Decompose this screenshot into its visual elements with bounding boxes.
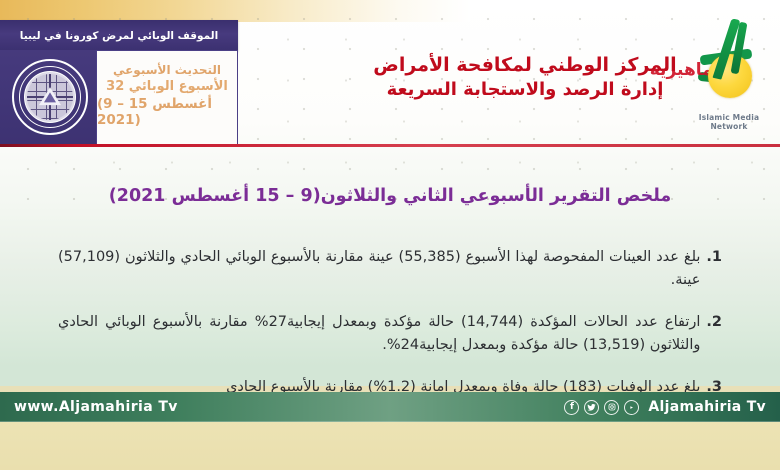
epidemic-situation-banner-text: الموقف الوبائي لمرض كورونا في ليبيا <box>20 30 218 42</box>
epidemiological-week-label: الأسبوع الوبائي 32 <box>106 79 228 94</box>
aljamahiria-logo: الجماهيرية Islamic Media Network <box>680 12 776 134</box>
list-item-text: ارتفاع عدد الحالات المؤكدة (14,744) حالة… <box>58 311 700 358</box>
epidemic-situation-banner: الموقف الوبائي لمرض كورونا في ليبيا <box>0 20 238 51</box>
report-graphic: الموقف الوبائي لمرض كورونا في ليبيا التح… <box>0 0 780 470</box>
islamic-media-network-label: Islamic Media Network <box>682 113 776 131</box>
page-title: ملخص التقرير الأسبوعي الثاني والثلاثون(9… <box>0 186 780 206</box>
footer-bar: www.Aljamahiria Tv f Aljamahiria Tv <box>0 392 780 422</box>
list-item: .1 بلغ عدد العينات المفحوصة لهذا الأسبوع… <box>58 246 722 293</box>
facebook-icon[interactable]: f <box>564 400 579 415</box>
social-handle-label[interactable]: Aljamahiria Tv <box>648 399 766 415</box>
list-item-number: .2 <box>706 311 722 358</box>
youtube-icon[interactable] <box>624 400 639 415</box>
social-links: f Aljamahiria Tv <box>564 399 766 415</box>
weekly-update-label: التحديث الأسبوعي <box>113 63 221 77</box>
list-item: .2 ارتفاع عدد الحالات المؤكدة (14,744) ح… <box>58 311 722 358</box>
date-range-label: (9 – 15 أغسطس 2021) <box>97 96 237 128</box>
instagram-icon[interactable] <box>604 400 619 415</box>
background-top-gold-strip <box>0 0 470 22</box>
ncdc-emblem-icon <box>10 57 90 137</box>
website-label[interactable]: www.Aljamahiria Tv <box>14 399 178 415</box>
twitter-icon[interactable] <box>584 400 599 415</box>
weekly-update-card: التحديث الأسبوعي الأسبوع الوبائي 32 (9 –… <box>96 50 238 145</box>
header-divider <box>0 144 780 147</box>
list-item-number: .1 <box>706 246 722 293</box>
list-item-text: بلغ عدد العينات المفحوصة لهذا الأسبوع (5… <box>58 246 700 293</box>
